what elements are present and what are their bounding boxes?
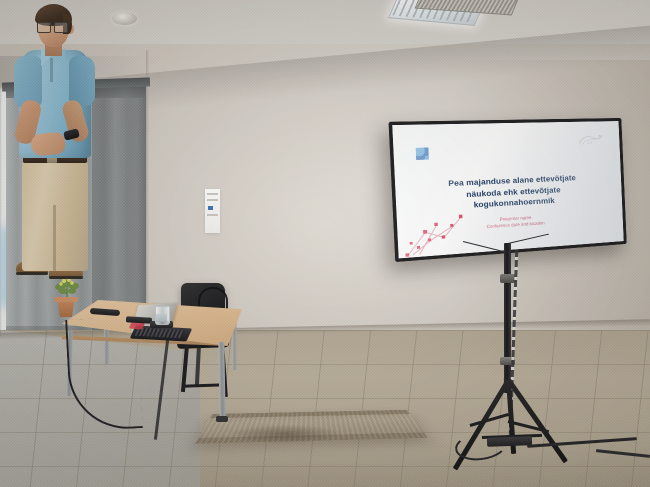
logo-mark-icon [416,147,429,159]
presentation-display[interactable]: 20 Pea majanduse alane ettevõtjate näuko… [406,118,624,250]
shoe-sole [49,276,83,279]
hands [30,132,66,157]
tripod-pole[interactable] [504,243,511,393]
shoe-sole [16,272,48,275]
flower-pot-rim [54,297,78,302]
tripod-clamp[interactable] [500,274,515,283]
water-level [156,314,167,322]
glasses-bridge [49,25,54,26]
slide-title: Pea majanduse alane ettevõtjate näukoda … [407,172,613,216]
event-logo-icon: 20 [576,131,606,147]
lens-right [54,22,68,33]
person-shadow [230,425,340,443]
wall-sign-line [207,214,218,216]
wall-sign-mark [208,206,213,210]
wall-sign [205,189,220,233]
room-scene: 20 Pea majanduse alane ettevõtjate näuko… [0,0,650,487]
sleeve-right [69,56,95,106]
slide-organisation-logo [416,147,433,160]
lens-left [37,22,51,33]
eyeglasses-icon [37,22,69,32]
svg-text:20: 20 [587,140,593,145]
table-foot [216,416,228,422]
tv-screen[interactable]: 20 Pea majanduse alane ettevõtjate näuko… [392,121,624,258]
wall-sign-line [207,199,218,201]
shirt-placket [50,58,53,82]
wall-sign-line [207,193,218,195]
tv-bezel: 20 Pea majanduse alane ettevõtjate näuko… [389,118,627,262]
downlight-icon [112,12,137,25]
trouser-seam [53,205,56,271]
slide-network-decoration-icon [401,210,474,258]
